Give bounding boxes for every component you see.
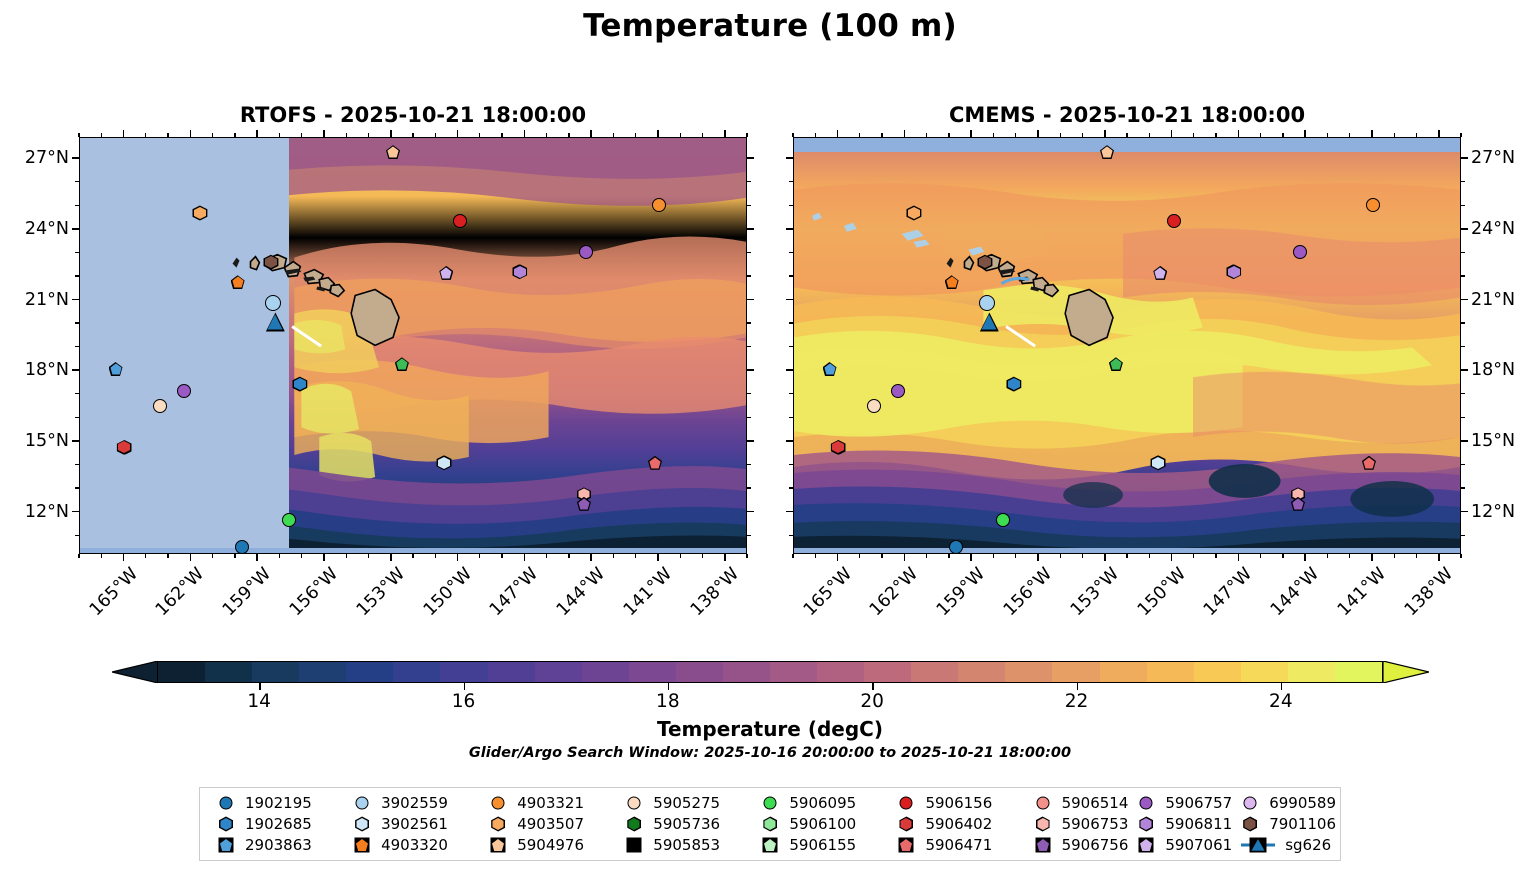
- x-minor-tick: [1193, 554, 1194, 558]
- legend-item[interactable]: 5906471: [888, 836, 1024, 854]
- x-minor-tick: [1282, 554, 1283, 558]
- colorbar-band-3: [299, 662, 346, 682]
- colorbar-band-0: [158, 662, 205, 682]
- x-minor-tick: [301, 133, 302, 137]
- colorbar-gradient: [157, 661, 1383, 683]
- x-tick-label: 147°W: [482, 564, 543, 625]
- legend-marker-circle-icon: [1136, 794, 1156, 812]
- y-minor-tick: [75, 464, 79, 465]
- colorbar-band-7: [488, 662, 535, 682]
- legend-marker-circle-icon: [216, 794, 236, 812]
- x-minor-tick: [859, 133, 860, 137]
- x-minor-tick: [435, 554, 436, 558]
- colorbar-band-9: [582, 662, 629, 682]
- y-tick-label: 27°N: [0, 148, 69, 168]
- colorbar-tick-label: 24: [1269, 691, 1293, 712]
- x-tick: [904, 130, 906, 137]
- legend-label: 5905853: [653, 838, 720, 853]
- panel-title-rtofs: RTOFS - 2025-10-21 18:00:00: [79, 103, 747, 127]
- y-tick-label: 18°N: [0, 360, 69, 380]
- colorbar-band-1: [205, 662, 252, 682]
- x-tick: [970, 554, 972, 561]
- y-tick: [747, 440, 754, 442]
- x-minor-tick: [78, 554, 79, 558]
- y-tick-label: 15°N: [1471, 431, 1515, 451]
- legend-marker-pentagon-icon: [1136, 836, 1156, 854]
- x-minor-tick: [635, 554, 636, 558]
- x-tick-label: 138°W: [1396, 564, 1457, 625]
- x-tick-label: 153°W: [348, 564, 409, 625]
- x-minor-tick: [1126, 554, 1127, 558]
- legend-item[interactable]: 5906156: [888, 794, 1024, 812]
- hawaii-coastline-rtofs: [80, 138, 746, 554]
- x-minor-tick: [1015, 133, 1016, 137]
- x-tick-label: 150°W: [415, 564, 476, 625]
- x-tick-label: 165°W: [81, 564, 142, 625]
- x-minor-tick: [78, 133, 79, 137]
- y-minor-tick: [1461, 322, 1465, 323]
- x-minor-tick: [1349, 133, 1350, 137]
- x-minor-tick: [613, 554, 614, 558]
- map-marker[interactable]: [867, 399, 881, 413]
- legend-marker-hexagon-icon: [352, 815, 372, 833]
- y-tick: [747, 157, 754, 159]
- x-minor-tick: [368, 554, 369, 558]
- y-tick: [72, 440, 79, 442]
- platform-legend: 1902195190268529038633902559390256149033…: [199, 787, 1341, 861]
- legend-item[interactable]: 1902685: [208, 815, 344, 833]
- x-minor-tick: [212, 133, 213, 137]
- legend-item[interactable]: 5906402: [888, 815, 1024, 833]
- x-minor-tick: [568, 133, 569, 137]
- x-tick: [390, 130, 392, 137]
- legend-item[interactable]: 5906155: [752, 836, 888, 854]
- y-tick: [72, 369, 79, 371]
- figure-canvas: Temperature (100 m) RTOFS - 2025-10-21 1…: [0, 0, 1540, 889]
- x-tick: [837, 554, 839, 561]
- colorbar-extend-max: [1383, 661, 1429, 683]
- y-tick-label: 24°N: [0, 219, 69, 239]
- x-minor-tick: [948, 554, 949, 558]
- x-minor-tick: [702, 554, 703, 558]
- y-minor-tick: [75, 535, 79, 536]
- x-tick-label: 141°W: [615, 564, 676, 625]
- x-tick: [657, 130, 659, 137]
- colorbar-tick-label: 22: [1065, 691, 1089, 712]
- x-tick-label: 156°W: [995, 564, 1056, 625]
- search-window-caption: Glider/Argo Search Window: 2025-10-16 20…: [0, 745, 1540, 761]
- legend-marker-hexagon-icon: [624, 815, 644, 833]
- colorbar-band-8: [535, 662, 582, 682]
- legend-marker-hexagon-icon: [1033, 815, 1053, 833]
- colorbar-band-4: [346, 662, 393, 682]
- legend-label: 5904976: [517, 838, 584, 853]
- x-minor-tick: [859, 554, 860, 558]
- x-minor-tick: [881, 554, 882, 558]
- x-minor-tick: [1060, 554, 1061, 558]
- x-tick: [256, 554, 258, 561]
- colorbar-band-5: [393, 662, 440, 682]
- x-minor-tick: [792, 133, 793, 137]
- x-tick: [123, 554, 125, 561]
- x-tick: [1371, 130, 1373, 137]
- legend-item[interactable]: 5906095: [752, 794, 888, 812]
- x-minor-tick: [815, 554, 816, 558]
- x-tick: [904, 554, 906, 561]
- y-tick: [72, 299, 79, 301]
- y-minor-tick: [747, 487, 751, 488]
- map-marker[interactable]: [265, 295, 281, 311]
- x-tick-label: 147°W: [1196, 564, 1257, 625]
- x-minor-tick: [1327, 554, 1328, 558]
- x-tick: [590, 130, 592, 137]
- legend-item[interactable]: 4903507: [480, 815, 616, 833]
- x-tick: [1037, 130, 1039, 137]
- x-minor-tick: [145, 554, 146, 558]
- legend-label: 5906156: [925, 796, 992, 811]
- x-tick: [1238, 130, 1240, 137]
- x-tick-label: 159°W: [214, 564, 275, 625]
- colorbar-band-21: [1147, 662, 1194, 682]
- x-tick-label: 162°W: [148, 564, 209, 625]
- legend-item[interactable]: 5906811: [1128, 815, 1232, 833]
- x-minor-tick: [1394, 554, 1395, 558]
- colorbar-tick: [464, 683, 465, 690]
- x-minor-tick: [746, 133, 747, 137]
- x-tick-label: 144°W: [548, 564, 609, 625]
- y-minor-tick: [747, 417, 751, 418]
- x-minor-tick: [948, 133, 949, 137]
- colorbar-tick: [872, 683, 873, 690]
- y-minor-tick: [1461, 181, 1465, 182]
- legend-marker-hexagon-icon: [896, 815, 916, 833]
- x-minor-tick: [1215, 554, 1216, 558]
- legend-label: 5906811: [1165, 817, 1232, 832]
- y-minor-tick: [747, 181, 751, 182]
- map-marker[interactable]: [1167, 214, 1181, 228]
- colorbar-band-11: [676, 662, 723, 682]
- y-minor-tick: [789, 464, 793, 465]
- legend-marker-circle-icon: [896, 794, 916, 812]
- y-minor-tick: [75, 322, 79, 323]
- y-tick-label: 18°N: [1471, 360, 1515, 380]
- x-tick-label: 165°W: [795, 564, 856, 625]
- map-marker[interactable]: [177, 384, 191, 398]
- legend-marker-pentagon-icon: [488, 836, 508, 854]
- y-minor-tick: [1461, 252, 1465, 253]
- colorbar-band-16: [911, 662, 958, 682]
- y-minor-tick: [747, 252, 751, 253]
- colorbar-tick: [259, 683, 260, 690]
- x-tick: [123, 130, 125, 137]
- y-tick: [747, 511, 754, 513]
- legend-label: 5906402: [925, 817, 992, 832]
- x-minor-tick: [412, 133, 413, 137]
- x-tick: [837, 130, 839, 137]
- legend-label: 3902561: [381, 817, 448, 832]
- x-minor-tick: [212, 554, 213, 558]
- colorbar-band-22: [1194, 662, 1241, 682]
- x-minor-tick: [501, 554, 502, 558]
- map-marker[interactable]: [579, 245, 593, 259]
- y-tick: [786, 511, 793, 513]
- x-minor-tick: [993, 133, 994, 137]
- legend-marker-pentagon-icon: [1033, 836, 1053, 854]
- y-tick: [72, 157, 79, 159]
- figure-title: Temperature (100 m): [0, 8, 1540, 44]
- legend-item[interactable]: 5906757: [1128, 794, 1232, 812]
- x-minor-tick: [501, 133, 502, 137]
- x-tick: [457, 554, 459, 561]
- x-minor-tick: [815, 133, 816, 137]
- y-tick: [1461, 299, 1468, 301]
- map-marker[interactable]: [153, 399, 167, 413]
- legend-marker-hexagon-icon: [216, 815, 236, 833]
- y-minor-tick: [789, 393, 793, 394]
- colorbar-band-23: [1241, 662, 1288, 682]
- legend-marker-glider-icon: [1240, 836, 1276, 854]
- y-minor-tick: [1461, 535, 1465, 536]
- legend-item[interactable]: 3902561: [344, 815, 480, 833]
- x-minor-tick: [279, 554, 280, 558]
- y-minor-tick: [747, 535, 751, 536]
- legend-item[interactable]: 5907061: [1128, 836, 1232, 854]
- x-tick: [190, 130, 192, 137]
- map-marker[interactable]: [282, 513, 296, 527]
- x-tick-label: 141°W: [1329, 564, 1390, 625]
- x-minor-tick: [1082, 554, 1083, 558]
- legend-label: 4903320: [381, 838, 448, 853]
- x-minor-tick: [568, 554, 569, 558]
- legend-marker-circle-icon: [760, 794, 780, 812]
- y-tick: [1461, 228, 1468, 230]
- x-tick-label: 150°W: [1129, 564, 1190, 625]
- colorbar-band-25: [1335, 662, 1382, 682]
- legend-item[interactable]: 1902195: [208, 794, 344, 812]
- legend-item[interactable]: 6990589: [1232, 794, 1336, 812]
- y-tick: [72, 511, 79, 513]
- colorbar-tick-label: 18: [656, 691, 680, 712]
- y-minor-tick: [789, 535, 793, 536]
- map-panel-rtofs[interactable]: [79, 137, 747, 554]
- legend-item[interactable]: 5905275: [616, 794, 752, 812]
- y-minor-tick: [789, 275, 793, 276]
- y-tick-label: 12°N: [0, 502, 69, 522]
- legend-marker-pentagon-icon: [216, 836, 236, 854]
- legend-item[interactable]: 5906753: [1025, 815, 1129, 833]
- legend-label: 5905736: [653, 817, 720, 832]
- hawaii-coastline-cmems: [794, 138, 1460, 554]
- y-tick: [1461, 511, 1468, 513]
- map-panel-cmems[interactable]: [793, 137, 1461, 554]
- x-minor-tick: [680, 133, 681, 137]
- colorbar-label: Temperature (degC): [0, 717, 1540, 741]
- x-tick: [256, 130, 258, 137]
- x-minor-tick: [1282, 133, 1283, 137]
- y-minor-tick: [1461, 487, 1465, 488]
- y-minor-tick: [1461, 275, 1465, 276]
- legend-marker-pentagon-icon: [896, 836, 916, 854]
- x-minor-tick: [1416, 133, 1417, 137]
- x-tick-label: 162°W: [862, 564, 923, 625]
- colorbar-tick-label: 16: [452, 691, 476, 712]
- legend-item[interactable]: sg626: [1232, 836, 1336, 854]
- x-tick: [323, 130, 325, 137]
- map-marker[interactable]: [652, 198, 666, 212]
- legend-marker-pentagon-icon: [760, 836, 780, 854]
- y-minor-tick: [1461, 417, 1465, 418]
- x-minor-tick: [1460, 554, 1461, 558]
- map-marker[interactable]: [453, 214, 467, 228]
- map-marker[interactable]: [996, 513, 1010, 527]
- y-minor-tick: [747, 205, 751, 206]
- x-tick-label: 144°W: [1262, 564, 1323, 625]
- x-minor-tick: [167, 554, 168, 558]
- map-marker[interactable]: [1366, 198, 1380, 212]
- x-minor-tick: [746, 554, 747, 558]
- x-tick: [1438, 130, 1440, 137]
- y-minor-tick: [747, 346, 751, 347]
- y-minor-tick: [747, 464, 751, 465]
- y-tick: [786, 440, 793, 442]
- y-minor-tick: [75, 417, 79, 418]
- y-tick: [786, 299, 793, 301]
- x-tick: [457, 130, 459, 137]
- legend-label: 1902685: [245, 817, 312, 832]
- x-tick: [657, 554, 659, 561]
- x-minor-tick: [1193, 133, 1194, 137]
- legend-marker-hexagon-icon: [1136, 815, 1156, 833]
- x-minor-tick: [479, 133, 480, 137]
- x-minor-tick: [346, 133, 347, 137]
- colorbar-tick: [1077, 683, 1078, 690]
- legend-item[interactable]: 5905853: [616, 836, 752, 854]
- y-tick: [1461, 440, 1468, 442]
- legend-label: 5906100: [789, 817, 856, 832]
- y-tick-label: 21°N: [0, 290, 69, 310]
- y-tick: [747, 299, 754, 301]
- colorbar-tick: [1281, 683, 1282, 690]
- colorbar-extend-min: [112, 661, 158, 683]
- colorbar-band-13: [770, 662, 817, 682]
- y-minor-tick: [747, 322, 751, 323]
- y-minor-tick: [789, 487, 793, 488]
- legend-marker-hexagon-icon: [760, 815, 780, 833]
- x-tick: [1304, 554, 1306, 561]
- x-minor-tick: [1260, 554, 1261, 558]
- map-marker[interactable]: [979, 295, 995, 311]
- legend-label: 5906095: [789, 796, 856, 811]
- x-minor-tick: [1060, 133, 1061, 137]
- x-minor-tick: [635, 133, 636, 137]
- legend-item[interactable]: 5906756: [1025, 836, 1129, 854]
- x-minor-tick: [1460, 133, 1461, 137]
- colorbar-band-18: [1005, 662, 1052, 682]
- x-tick: [970, 130, 972, 137]
- x-tick: [724, 554, 726, 561]
- colorbar-band-24: [1288, 662, 1335, 682]
- y-tick-label: 21°N: [1471, 290, 1515, 310]
- legend-item[interactable]: 7901106: [1232, 815, 1336, 833]
- legend-marker-circle-icon: [488, 794, 508, 812]
- x-tick-label: 153°W: [1062, 564, 1123, 625]
- y-minor-tick: [789, 417, 793, 418]
- x-tick: [323, 554, 325, 561]
- x-minor-tick: [546, 554, 547, 558]
- colorbar-band-12: [723, 662, 770, 682]
- colorbar-band-19: [1052, 662, 1099, 682]
- legend-item[interactable]: 4903320: [344, 836, 480, 854]
- x-minor-tick: [1394, 133, 1395, 137]
- legend-item[interactable]: 3902559: [344, 794, 480, 812]
- colorbar-tick-label: 20: [860, 691, 884, 712]
- x-minor-tick: [546, 133, 547, 137]
- x-minor-tick: [368, 133, 369, 137]
- legend-item[interactable]: 4903321: [480, 794, 616, 812]
- x-tick: [1171, 554, 1173, 561]
- x-tick: [1171, 130, 1173, 137]
- x-minor-tick: [234, 133, 235, 137]
- x-minor-tick: [1126, 133, 1127, 137]
- legend-label: 6990589: [1269, 796, 1336, 811]
- x-minor-tick: [1327, 133, 1328, 137]
- legend-marker-hexagon-icon: [488, 815, 508, 833]
- x-minor-tick: [926, 133, 927, 137]
- map-marker[interactable]: [1293, 245, 1307, 259]
- x-minor-tick: [101, 554, 102, 558]
- x-minor-tick: [926, 554, 927, 558]
- y-minor-tick: [1461, 393, 1465, 394]
- x-tick: [190, 554, 192, 561]
- legend-marker-circle-icon: [352, 794, 372, 812]
- legend-label: 7901106: [1269, 817, 1336, 832]
- map-marker[interactable]: [949, 540, 963, 554]
- x-minor-tick: [1149, 554, 1150, 558]
- legend-label: 4903507: [517, 817, 584, 832]
- y-tick: [1461, 369, 1468, 371]
- legend-item[interactable]: 2903863: [208, 836, 344, 854]
- legend-item[interactable]: 5904976: [480, 836, 616, 854]
- y-tick: [786, 228, 793, 230]
- panel-title-cmems: CMEMS - 2025-10-21 18:00:00: [793, 103, 1461, 127]
- legend-marker-pentagon-icon: [352, 836, 372, 854]
- colorbar-band-10: [629, 662, 676, 682]
- y-minor-tick: [1461, 205, 1465, 206]
- x-tick: [1304, 130, 1306, 137]
- y-minor-tick: [75, 393, 79, 394]
- x-minor-tick: [881, 133, 882, 137]
- colorbar-band-20: [1100, 662, 1147, 682]
- legend-marker-pentagon-icon: [624, 836, 644, 854]
- y-minor-tick: [789, 181, 793, 182]
- legend-item[interactable]: 5905736: [616, 815, 752, 833]
- legend-item[interactable]: 5906100: [752, 815, 888, 833]
- colorbar-tick: [668, 683, 669, 690]
- map-marker[interactable]: [891, 384, 905, 398]
- x-tick: [1438, 554, 1440, 561]
- map-marker[interactable]: [235, 540, 249, 554]
- x-tick: [724, 130, 726, 137]
- x-minor-tick: [301, 554, 302, 558]
- legend-label: 5907061: [1165, 838, 1232, 853]
- colorbar: 141618202224: [112, 661, 1428, 683]
- x-minor-tick: [101, 133, 102, 137]
- x-minor-tick: [346, 554, 347, 558]
- y-minor-tick: [789, 322, 793, 323]
- colorbar-band-2: [252, 662, 299, 682]
- legend-item[interactable]: 5906514: [1025, 794, 1129, 812]
- x-tick: [1037, 554, 1039, 561]
